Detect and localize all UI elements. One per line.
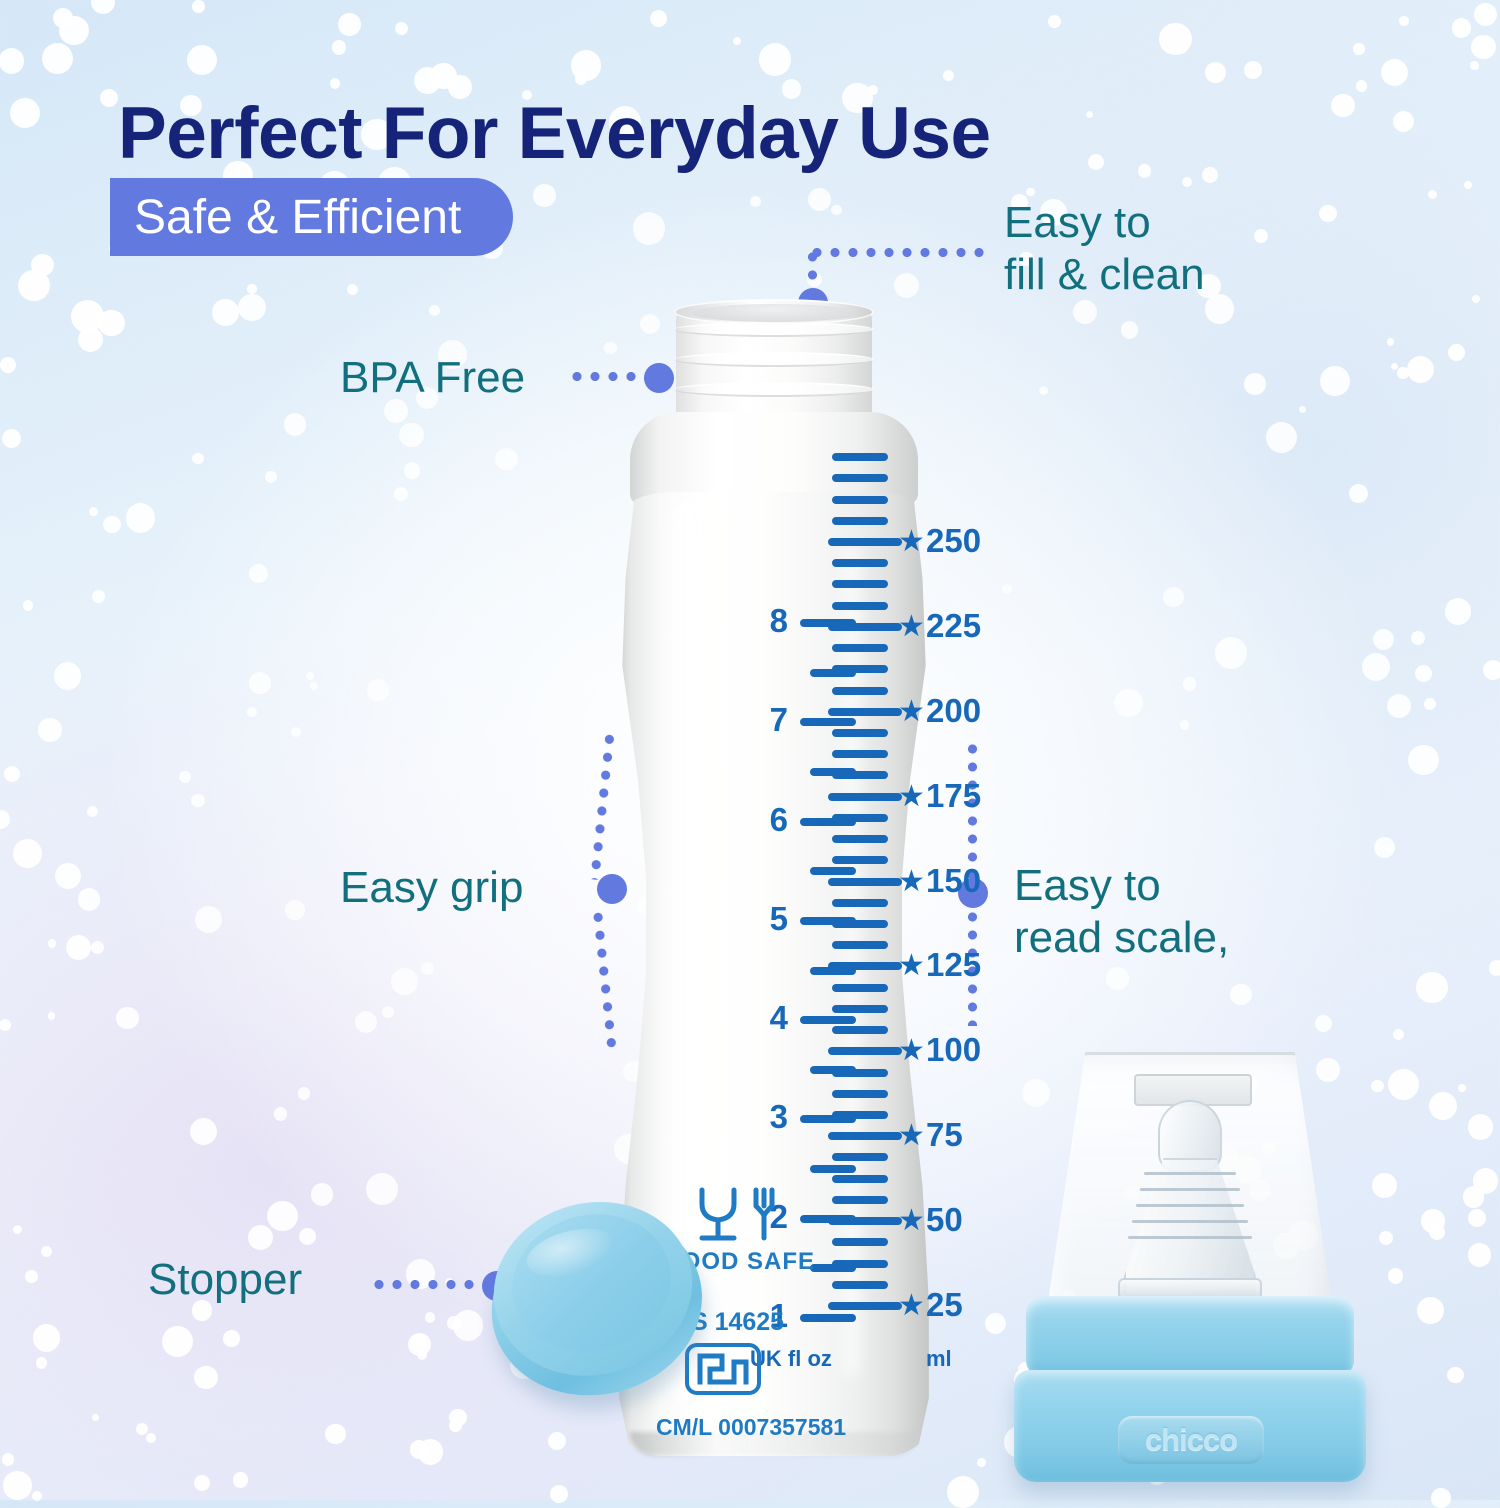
connector-dots-vertical — [808, 248, 817, 292]
ml-scale-number: 25 — [926, 1286, 963, 1324]
background-dot — [1428, 190, 1437, 199]
teat-rib — [1140, 1188, 1240, 1191]
ml-scale-number: 100 — [926, 1031, 981, 1069]
oz-major-tick — [800, 619, 856, 627]
background-dot — [54, 662, 82, 690]
background-dot — [233, 1472, 248, 1487]
background-dot — [36, 1357, 48, 1369]
food-safe-icon — [696, 1186, 780, 1249]
background-dot — [18, 270, 50, 302]
background-dot — [1372, 1173, 1397, 1198]
background-dot — [947, 1476, 979, 1508]
oz-major-tick — [800, 818, 856, 826]
background-dot — [195, 906, 222, 933]
background-dot — [103, 516, 120, 533]
ml-star-marker: ★ — [898, 951, 925, 981]
background-dot — [33, 1324, 60, 1351]
ml-major-tick — [828, 878, 902, 886]
background-dot — [807, 272, 822, 287]
background-dot — [2, 429, 21, 448]
oz-major-tick — [800, 1115, 856, 1123]
background-dot — [1353, 43, 1364, 54]
ml-minor-tick — [832, 899, 888, 907]
ml-minor-tick — [832, 602, 888, 610]
background-dot — [78, 327, 104, 353]
background-dot — [1468, 1243, 1492, 1267]
background-dot — [1458, 1084, 1466, 1092]
background-dot — [10, 98, 40, 128]
background-dot — [366, 1173, 398, 1205]
background-dot — [291, 727, 301, 737]
background-dot — [1183, 677, 1196, 690]
background-dot — [1349, 484, 1368, 503]
oz-minor-tick — [810, 967, 856, 975]
ml-scale-number: 175 — [926, 777, 981, 815]
oz-major-tick — [800, 1016, 856, 1024]
callout-easy-to-read-scale: Easy to read scale, — [1014, 860, 1229, 964]
background-dot — [395, 22, 408, 35]
background-dot — [382, 1006, 394, 1018]
background-dot — [1391, 363, 1398, 370]
background-dot — [191, 794, 205, 808]
background-dot — [265, 471, 277, 483]
background-dot — [1429, 1224, 1445, 1240]
background-dot — [1387, 694, 1411, 718]
background-dot — [310, 682, 318, 690]
callout-easy-grip: Easy grip — [340, 862, 523, 914]
background-dot — [53, 8, 73, 28]
ml-major-tick — [828, 1302, 902, 1310]
background-dot — [330, 78, 340, 88]
background-dot — [1002, 584, 1012, 594]
background-dot — [1421, 1209, 1445, 1233]
background-dot — [2, 1453, 15, 1466]
background-dot — [1319, 205, 1337, 223]
connector-dots-horizontal — [370, 1280, 486, 1289]
background-dot — [1474, 3, 1497, 26]
ml-star-marker: ★ — [898, 782, 925, 812]
background-dot — [38, 718, 62, 742]
background-dot — [41, 1246, 52, 1257]
background-dot — [1048, 15, 1061, 28]
background-dot — [1381, 59, 1408, 86]
ml-scale-number: 125 — [926, 946, 981, 984]
oz-scale-number: 8 — [754, 602, 788, 640]
background-dot — [759, 43, 792, 76]
ml-major-tick — [828, 1047, 902, 1055]
background-dot — [1471, 35, 1495, 59]
background-dot — [223, 1330, 240, 1347]
nipple-cap-assembly: chicco — [1014, 1048, 1366, 1482]
background-dot — [449, 1409, 466, 1426]
ml-minor-tick — [832, 835, 888, 843]
background-dot — [116, 1007, 138, 1029]
ml-star-marker: ★ — [898, 1121, 925, 1151]
oz-scale-number: 3 — [754, 1098, 788, 1136]
background-dot — [1088, 154, 1104, 170]
background-dot — [192, 453, 204, 465]
ml-star-marker: ★ — [898, 697, 925, 727]
background-dot — [1397, 367, 1408, 378]
background-dot — [430, 63, 456, 89]
ml-minor-tick — [832, 496, 888, 504]
background-dot — [421, 962, 434, 975]
ml-minor-tick — [832, 644, 888, 652]
background-dot — [0, 48, 24, 74]
background-dot — [13, 1225, 22, 1234]
ml-minor-tick — [832, 1238, 888, 1246]
background-dot — [212, 299, 238, 325]
subtitle-badge: Safe & Efficient — [110, 178, 513, 256]
oz-major-tick — [800, 917, 856, 925]
background-dot — [750, 196, 761, 207]
background-dot — [1039, 386, 1048, 395]
background-dot — [92, 1414, 99, 1421]
background-dot — [55, 863, 81, 889]
background-dot — [71, 300, 104, 333]
background-dot — [100, 89, 118, 107]
background-dot — [1026, 188, 1035, 197]
background-dot — [249, 672, 271, 694]
teat-rib — [1132, 1220, 1248, 1223]
callout-line-2: fill & clean — [1004, 249, 1205, 301]
background-dot — [1114, 689, 1142, 717]
ml-minor-tick — [832, 941, 888, 949]
background-dot — [284, 413, 306, 435]
background-dot — [1424, 698, 1436, 710]
background-dot — [495, 448, 518, 471]
oz-minor-tick — [810, 768, 856, 776]
background-dot — [408, 1333, 431, 1356]
ml-minor-tick — [832, 1026, 888, 1034]
background-dot — [1417, 1297, 1444, 1324]
background-dot — [808, 188, 831, 211]
oz-unit-label: UK fl oz — [750, 1346, 832, 1372]
oz-major-tick — [800, 1314, 856, 1322]
background-dot — [89, 507, 98, 516]
background-dot — [449, 1419, 462, 1432]
background-dot — [4, 766, 20, 782]
background-dot — [1447, 1367, 1464, 1384]
background-dot — [1086, 111, 1093, 118]
ml-minor-tick — [832, 559, 888, 567]
background-dot — [414, 67, 441, 94]
background-dot — [98, 310, 125, 337]
ml-major-tick — [828, 1132, 902, 1140]
ml-scale-number: 75 — [926, 1116, 963, 1154]
background-dot — [92, 590, 105, 603]
collar-upper-ring — [1026, 1296, 1354, 1378]
background-dot — [1180, 720, 1189, 729]
ml-minor-tick — [832, 1175, 888, 1183]
oz-major-tick — [800, 718, 856, 726]
background-dot — [1468, 1209, 1486, 1227]
background-dot — [1393, 1029, 1405, 1041]
background-dot — [733, 37, 741, 45]
background-dot — [453, 1310, 484, 1341]
ml-unit-label: ml — [926, 1346, 952, 1372]
background-dot — [1315, 1015, 1332, 1032]
background-dot — [831, 205, 842, 216]
ml-star-marker: ★ — [898, 527, 925, 557]
background-dot — [1393, 111, 1414, 132]
connector-dots-horizontal — [808, 248, 990, 257]
callout-line-2: read scale, — [1014, 912, 1229, 964]
background-dot — [1408, 745, 1439, 776]
ml-scale-number: 225 — [926, 607, 981, 645]
oz-minor-tick — [810, 1066, 856, 1074]
background-dot — [894, 273, 919, 298]
teat-rib — [1128, 1236, 1252, 1239]
background-dot — [417, 1349, 427, 1359]
background-dot — [285, 900, 305, 920]
background-dot — [0, 810, 10, 829]
background-dot — [248, 1225, 273, 1250]
background-dot — [247, 707, 257, 717]
background-dot — [404, 462, 421, 479]
background-dot — [1473, 1168, 1498, 1193]
background-dot — [1472, 295, 1480, 303]
ml-star-marker: ★ — [898, 612, 925, 642]
background-dot — [1429, 1092, 1457, 1120]
brand-logo-text: chicco — [1145, 1422, 1237, 1458]
background-dot — [267, 1201, 298, 1232]
oz-minor-tick — [810, 1165, 856, 1173]
ml-minor-tick — [832, 1090, 888, 1098]
background-dot — [249, 564, 268, 583]
background-dot — [1489, 960, 1500, 975]
background-dot — [1388, 1069, 1420, 1101]
background-dot — [571, 50, 601, 80]
background-dot — [0, 357, 16, 373]
background-dot — [25, 1270, 38, 1283]
background-dot — [1215, 637, 1246, 668]
background-dot — [1399, 16, 1409, 26]
background-dot — [146, 1433, 156, 1443]
background-dot — [418, 1439, 443, 1464]
background-dot — [192, 0, 205, 13]
ml-minor-tick — [832, 856, 888, 864]
background-dot — [1416, 972, 1448, 1004]
background-dot — [1182, 177, 1192, 187]
background-dot — [447, 1316, 461, 1330]
background-dot — [1407, 356, 1434, 383]
callout-line-1: Easy to — [1014, 860, 1229, 912]
background-dot — [1464, 181, 1473, 190]
ml-minor-tick — [832, 1153, 888, 1161]
background-dot — [533, 184, 556, 207]
ml-star-marker: ★ — [898, 1291, 925, 1321]
background-dot — [91, 941, 104, 954]
background-dot — [59, 16, 89, 46]
ml-minor-tick — [832, 517, 888, 525]
background-dot — [31, 254, 54, 277]
teat-body — [1124, 1158, 1256, 1296]
background-dot — [1299, 406, 1306, 413]
background-dot — [1244, 373, 1266, 395]
background-dot — [1431, 1488, 1450, 1507]
background-dot — [977, 1458, 985, 1466]
background-dot — [1106, 967, 1128, 989]
background-dot — [66, 935, 91, 960]
oz-scale-number: 4 — [754, 999, 788, 1037]
oz-scale-number: 6 — [754, 801, 788, 839]
callout-stopper: Stopper — [148, 1254, 302, 1306]
background-dot — [391, 968, 418, 995]
background-dot — [1415, 665, 1432, 682]
background-dot — [190, 1118, 217, 1145]
background-dot — [179, 771, 191, 783]
teat-rib — [1136, 1204, 1244, 1207]
background-dot — [78, 888, 101, 911]
background-dot — [1483, 660, 1500, 680]
ml-minor-tick — [832, 453, 888, 461]
ml-minor-tick — [832, 580, 888, 588]
background-dot — [347, 284, 359, 296]
ml-major-tick — [828, 538, 902, 546]
background-dot — [1331, 94, 1354, 117]
background-dot — [194, 1366, 217, 1389]
background-dot — [274, 1107, 287, 1120]
background-dot — [1373, 629, 1394, 650]
background-dot — [311, 1183, 333, 1205]
background-dot — [299, 1228, 316, 1245]
background-dot — [1254, 229, 1268, 243]
background-dot — [1387, 338, 1394, 345]
oz-minor-tick — [810, 1264, 856, 1272]
callout-line-1: Easy to — [1004, 197, 1205, 249]
background-dot — [412, 1334, 426, 1348]
background-dot — [355, 1011, 378, 1034]
ml-minor-tick — [832, 1281, 888, 1289]
background-dot — [575, 72, 587, 84]
background-dot — [1371, 1080, 1383, 1092]
background-dot — [1202, 167, 1218, 183]
background-dot — [87, 806, 98, 817]
background-dot — [0, 1019, 11, 1031]
background-dot — [338, 13, 361, 36]
background-dot — [48, 1012, 56, 1020]
background-dot — [445, 1278, 453, 1286]
oz-scale-number: 5 — [754, 900, 788, 938]
background-dot — [1244, 61, 1263, 80]
background-dot — [1374, 837, 1395, 858]
background-dot — [394, 487, 408, 501]
ml-minor-tick — [832, 474, 888, 482]
oz-major-tick — [800, 1215, 856, 1223]
background-dot — [1159, 23, 1191, 55]
ml-scale-number: 50 — [926, 1201, 963, 1239]
callout-easy-to-fill-and-clean: Easy to fill & clean — [1004, 197, 1205, 301]
background-dot — [247, 284, 256, 293]
background-dot — [238, 294, 265, 321]
background-dot — [1448, 344, 1465, 361]
background-dot — [298, 1087, 310, 1099]
background-dot — [399, 423, 423, 447]
background-dot — [1163, 587, 1184, 608]
background-dot — [1230, 984, 1252, 1006]
background-dot — [42, 43, 73, 74]
background-dot — [410, 1440, 428, 1458]
background-dot — [1073, 300, 1097, 324]
background-dot — [1411, 631, 1425, 645]
ml-minor-tick — [832, 1196, 888, 1204]
background-dot — [91, 0, 115, 14]
background-dot — [194, 1475, 210, 1491]
background-dot — [633, 212, 666, 245]
background-dot — [1452, 18, 1471, 37]
background-dot — [1205, 62, 1226, 83]
background-dot — [23, 600, 33, 610]
ml-minor-tick — [832, 1005, 888, 1013]
background-dot — [1468, 1114, 1494, 1140]
background-dot — [1362, 653, 1390, 681]
background-dot — [126, 503, 156, 533]
background-dot — [48, 939, 57, 948]
ml-minor-tick — [832, 984, 888, 992]
oz-scale-number: 7 — [754, 701, 788, 739]
page-title: Perfect For Everyday Use — [118, 92, 991, 175]
background-dot — [1121, 321, 1138, 338]
oz-minor-tick — [810, 669, 856, 677]
background-dot — [406, 1259, 436, 1289]
background-dot — [332, 40, 347, 55]
ml-scale-number: 200 — [926, 692, 981, 730]
background-dot — [1356, 80, 1368, 92]
background-dot — [3, 1471, 32, 1500]
background-dot — [1445, 598, 1472, 625]
background-dot — [187, 45, 217, 75]
background-dot — [1463, 1186, 1485, 1208]
ml-star-marker: ★ — [898, 1036, 925, 1066]
background-dot — [985, 1313, 1006, 1334]
background-dot — [1379, 1231, 1393, 1245]
background-dot — [1320, 366, 1350, 396]
ml-scale-number: 150 — [926, 862, 981, 900]
background-dot — [136, 1423, 148, 1435]
background-dot — [943, 70, 954, 81]
oz-minor-tick — [810, 867, 856, 875]
background-dot — [13, 839, 42, 868]
ml-major-tick — [828, 793, 902, 801]
silicone-teat — [1114, 1100, 1266, 1296]
background-dot — [425, 1312, 436, 1323]
ml-major-tick — [828, 708, 902, 716]
background-dot — [650, 10, 667, 27]
background-dot — [325, 1424, 346, 1445]
background-dot — [1205, 294, 1235, 324]
callout-bpa-free: BPA Free — [340, 352, 525, 404]
ml-star-marker: ★ — [898, 867, 925, 897]
background-dot — [1138, 164, 1151, 177]
background-dot — [429, 305, 440, 316]
ml-minor-tick — [832, 729, 888, 737]
ml-minor-tick — [832, 750, 888, 758]
ml-scale-number: 250 — [926, 522, 981, 560]
ml-minor-tick — [832, 687, 888, 695]
background-dot — [162, 1326, 193, 1357]
brand-logo-plate: chicco — [1118, 1416, 1264, 1464]
background-dot — [367, 679, 388, 700]
ml-star-marker: ★ — [898, 1206, 925, 1236]
teat-rib — [1144, 1172, 1236, 1175]
background-dot — [1388, 1268, 1403, 1283]
background-dot — [306, 672, 314, 680]
background-dot — [1470, 61, 1479, 70]
background-dot — [1266, 422, 1298, 454]
